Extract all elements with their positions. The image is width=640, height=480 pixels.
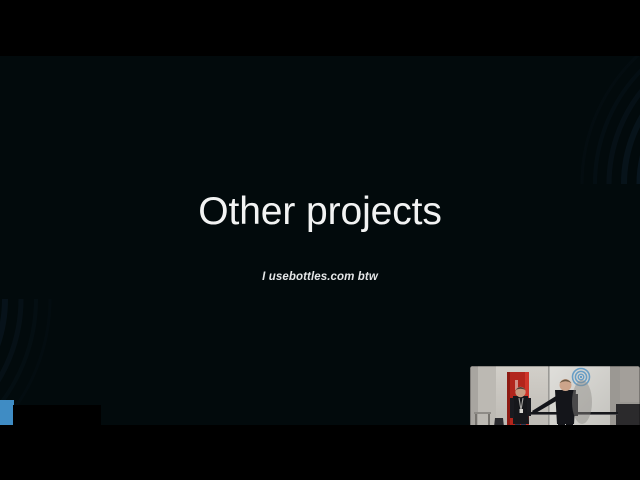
slide-subtitle: I usebottles.com btw <box>0 271 640 283</box>
letterbox-bar-bottom <box>0 425 640 480</box>
presentation-slide: Other projects I usebottles.com btw <box>0 56 640 425</box>
presenter-camera-feed <box>470 366 640 425</box>
letterbox-bar-top <box>0 0 640 56</box>
corner-accent-chip <box>0 400 14 425</box>
page-title: Other projects <box>0 190 640 234</box>
bottom-left-black-bar <box>13 405 101 425</box>
video-player-frame: Other projects I usebottles.com btw <box>0 0 640 480</box>
concentric-rings-top-right-icon <box>508 56 640 184</box>
